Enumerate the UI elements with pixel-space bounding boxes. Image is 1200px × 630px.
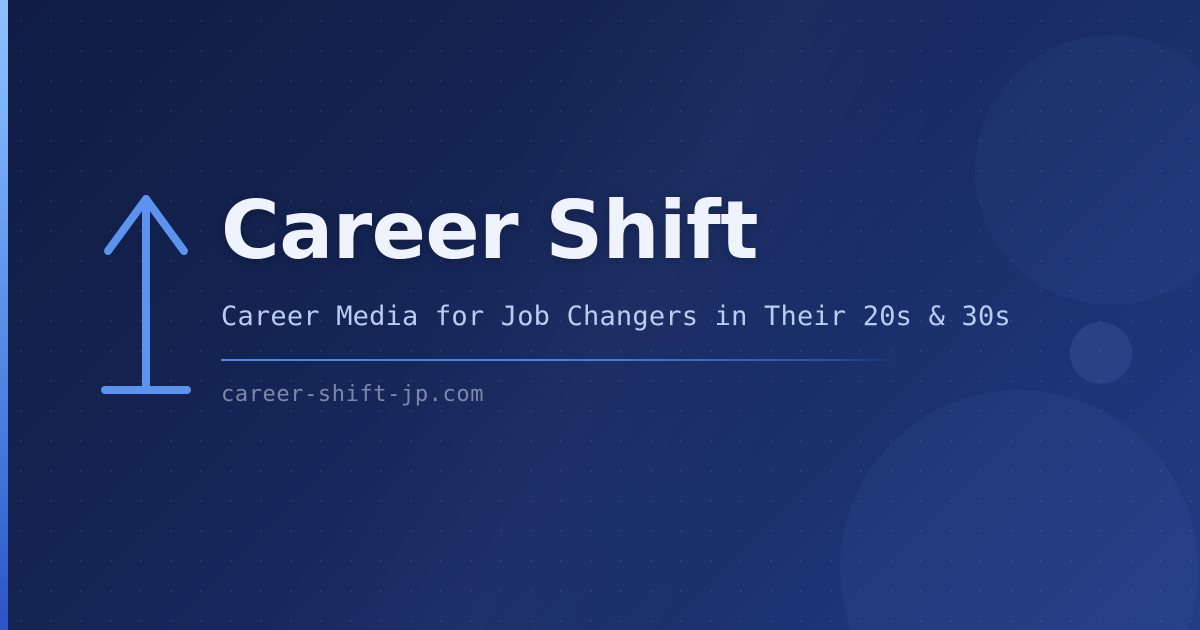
card-content: Career Shift Career Media for Job Change… xyxy=(0,0,1200,630)
logo-mark xyxy=(92,183,200,403)
page-title: Career Shift xyxy=(221,183,1061,279)
tagline: Career Media for Job Changers in Their 2… xyxy=(221,299,1061,335)
og-card: Career Shift Career Media for Job Change… xyxy=(0,0,1200,630)
site-url: career-shift-jp.com xyxy=(221,381,1061,409)
divider xyxy=(221,359,901,361)
upward-arrow-icon xyxy=(92,183,200,403)
text-block: Career Shift Career Media for Job Change… xyxy=(221,183,1061,409)
